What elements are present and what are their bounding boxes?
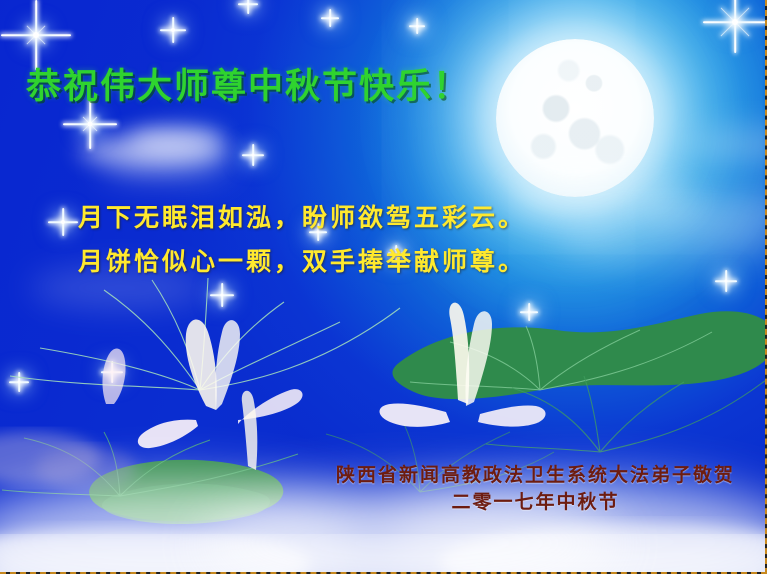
poem-block: 月下无眠泪如泓，盼师欲驾五彩云。 月饼恰似心一颗，双手捧举献师尊。 — [78, 196, 526, 284]
greeting-card: 恭祝伟大师尊中秋节快乐！ 月下无眠泪如泓，盼师欲驾五彩云。 月饼恰似心一颗，双手… — [0, 0, 767, 574]
cloud-left-c — [100, 152, 230, 176]
cloud-left-b — [128, 126, 224, 152]
full-moon-icon — [496, 39, 654, 197]
signature-block: 陕西省新闻高教政法卫生系统大法弟子敬贺 二零一七年中秋节 — [336, 462, 735, 516]
cloud-right-lower — [560, 215, 767, 269]
cloud-below-moon — [505, 176, 695, 218]
signature-line-1: 陕西省新闻高教政法卫生系统大法弟子敬贺 — [336, 462, 735, 489]
page-title: 恭祝伟大师尊中秋节快乐！ — [26, 58, 470, 109]
poem-line-1: 月下无眠泪如泓，盼师欲驾五彩云。 — [78, 196, 526, 240]
poem-line-2: 月饼恰似心一颗，双手捧举献师尊。 — [78, 240, 526, 284]
signature-line-2: 二零一七年中秋节 — [336, 489, 735, 516]
